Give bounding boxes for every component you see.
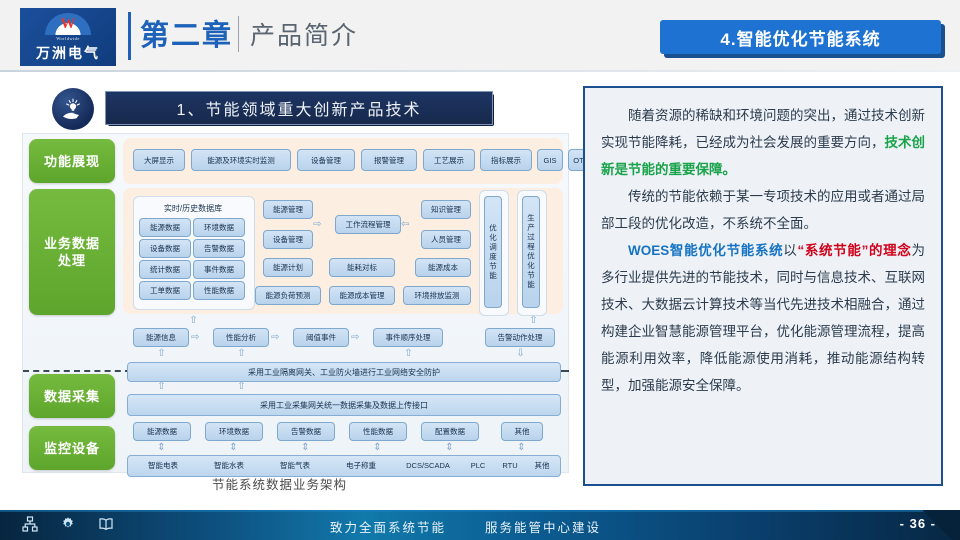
- biz-node-load-forecast[interactable]: 能源负荷预测: [255, 286, 321, 305]
- biz-node-device-mgmt[interactable]: 设备管理: [263, 230, 313, 249]
- p3-highlight-red: “系统节能”的理念: [797, 243, 911, 258]
- node-label: 事件数据: [204, 265, 234, 274]
- database-title: 实时/历史数据库: [137, 200, 249, 216]
- arrow-up-perf: ⇧: [237, 349, 246, 359]
- topic-badge-body: 4.智能优化节能系统: [660, 20, 941, 54]
- node-indicator-display[interactable]: 指标展示: [480, 149, 532, 171]
- data-node-alarm[interactable]: 告警数据: [277, 422, 335, 441]
- node-label: 工艺展示: [434, 156, 464, 165]
- gear-icon[interactable]: [60, 516, 76, 532]
- collection-gateway-bar[interactable]: 采用工业采集网关统一数据采集及数据上传接口: [127, 394, 561, 416]
- book-icon[interactable]: [98, 516, 114, 532]
- flow-node-event-sequence[interactable]: 事件顺序处理: [373, 328, 443, 347]
- gateway-bar-label: 采用工业采集网关统一数据采集及数据上传接口: [260, 400, 428, 411]
- chapter-separator: [238, 16, 239, 52]
- node-label: 报警管理: [374, 156, 404, 165]
- node-label: 环境数据: [204, 223, 234, 232]
- node-label: 能耗对标: [347, 263, 377, 272]
- data-node-config[interactable]: 配置数据: [421, 422, 479, 441]
- node-label: 大屏显示: [144, 156, 174, 165]
- logo-company-name: 万洲电气: [36, 44, 100, 62]
- biz-node-knowledge-mgmt[interactable]: 知识管理: [421, 200, 471, 219]
- node-label: 其他: [515, 427, 530, 436]
- header-divider: [0, 70, 960, 72]
- layer-label-devices: 监控设备: [29, 426, 115, 470]
- db-node-workorder[interactable]: 工单数据: [139, 281, 191, 300]
- node-label: 告警数据: [291, 427, 321, 436]
- db-node-performance[interactable]: 性能数据: [193, 281, 245, 300]
- arrow-up-sec-1: ⇧: [157, 382, 166, 392]
- biz-node-energy-plan[interactable]: 能源计划: [263, 258, 313, 277]
- slide-footer: [0, 510, 960, 540]
- section-title-label: 1、节能领域重大创新产品技术: [177, 96, 422, 120]
- layer-label-presentation: 功能展现: [29, 139, 115, 183]
- layer-label-business-text1: 业务数据: [44, 235, 100, 252]
- node-label: 能源管理: [273, 205, 303, 214]
- biz-node-staff-mgmt[interactable]: 人员管理: [421, 230, 471, 249]
- db-node-event[interactable]: 事件数据: [193, 260, 245, 279]
- node-process-display[interactable]: 工艺展示: [423, 149, 475, 171]
- node-label: 优化调度节能: [489, 224, 498, 281]
- arrow-up-vert: ⇧: [529, 316, 538, 326]
- node-label: 生产过程优化节能: [527, 214, 536, 290]
- node-big-screen[interactable]: 大屏显示: [133, 149, 185, 171]
- node-label: 告警动作处理: [498, 333, 543, 342]
- arrow-dn-5: ⇕: [445, 443, 454, 453]
- biz-node-energy-cost[interactable]: 能源成本: [415, 258, 471, 277]
- flow-node-energy-info[interactable]: 能源信息: [133, 328, 189, 347]
- node-label: 智能电表: [148, 461, 178, 470]
- footer-icon-group: [22, 516, 114, 532]
- device-node-smart-meter[interactable]: 智能电表: [135, 456, 191, 474]
- diagram-caption: 节能系统数据业务架构: [212, 474, 347, 493]
- description-panel: 随着资源的稀缺和环境问题的突出，通过技术创新实现节能降耗，已经成为社会发展的重要…: [583, 86, 943, 486]
- slide-root: W Worldwide 万洲电气 第二章 产品简介 4.智能优化节能系统: [0, 0, 960, 540]
- node-label: 性能数据: [363, 427, 393, 436]
- db-node-alarm[interactable]: 告警数据: [193, 239, 245, 258]
- node-label: 能源数据: [147, 427, 177, 436]
- p3-text-b: 为多行业提供先进的节能技术，同时与信息技术、互联网技术、大数据云计算技术等当代先…: [601, 243, 925, 393]
- node-label: 电子称重: [346, 461, 376, 470]
- db-node-device[interactable]: 设备数据: [139, 239, 191, 258]
- security-gateway-bar[interactable]: 采用工业隔离网关、工业防火墙进行工业网络安全防护: [127, 362, 561, 382]
- node-label: 能源信息: [146, 333, 176, 342]
- section-title-bar: 1、节能领域重大创新产品技术: [105, 91, 493, 125]
- layer-label-business: 业务数据 处理: [29, 189, 115, 315]
- node-device-mgmt-top[interactable]: 设备管理: [297, 149, 355, 171]
- database-title-text: 实时/历史数据库: [164, 204, 222, 213]
- layer-label-business-text2: 处理: [58, 252, 86, 269]
- node-alarm-mgmt[interactable]: 报警管理: [361, 149, 417, 171]
- node-realtime-monitor[interactable]: 能源及环境实时监测: [191, 149, 291, 171]
- layer-label-devices-text: 监控设备: [44, 440, 100, 457]
- footer-slogan-left: 致力全面系统节能: [330, 517, 446, 536]
- arrow-dn-1: ⇕: [157, 443, 166, 453]
- node-label: 告警数据: [204, 244, 234, 253]
- description-paragraph-1: 随着资源的稀缺和环境问题的突出，通过技术创新实现节能降耗，已经成为社会发展的重要…: [601, 102, 925, 183]
- flow-node-performance-analysis[interactable]: 性能分析: [213, 328, 269, 347]
- arrow-up-sec-2: ⇧: [237, 382, 246, 392]
- device-node-scale[interactable]: 电子称重: [333, 456, 389, 474]
- node-label: 知识管理: [431, 205, 461, 214]
- sitemap-icon[interactable]: [22, 516, 38, 532]
- layer-label-presentation-text: 功能展现: [44, 153, 100, 170]
- footer-slogan-right: 服务能管中心建设: [485, 517, 601, 536]
- node-label: 能源数据: [150, 223, 180, 232]
- architecture-diagram: 功能展现 业务数据 处理 数据采集 监控设备 大屏显示 能源及环境实时监测 设备…: [22, 133, 569, 473]
- node-label: 环境数据: [219, 427, 249, 436]
- company-logo: W Worldwide 万洲电气: [20, 8, 116, 66]
- slide-header: W Worldwide 万洲电气 第二章 产品简介 4.智能优化节能系统: [0, 0, 960, 72]
- node-label: 事件顺序处理: [386, 333, 431, 342]
- node-label: DCS/SCADA: [406, 461, 450, 470]
- device-node-other[interactable]: 其他: [527, 456, 557, 474]
- arrow-down-alarm: ⇩: [516, 349, 525, 359]
- p1-text: 随着资源的稀缺和环境问题的突出，通过技术创新实现节能降耗，已经成为社会发展的重要…: [601, 108, 925, 150]
- device-node-water-meter[interactable]: 智能水表: [201, 456, 257, 474]
- biz-node-consumption-benchmark[interactable]: 能耗对标: [329, 258, 395, 277]
- node-label: 其他: [535, 461, 550, 470]
- node-label: RTU: [502, 461, 517, 470]
- arrow-dn-2: ⇕: [229, 443, 238, 453]
- arrow-up-event-seq: ⇧: [404, 349, 413, 359]
- node-label: PLC: [471, 461, 486, 470]
- arrow-up-energy-info: ⇧: [157, 349, 166, 359]
- node-label: 工单数据: [150, 286, 180, 295]
- node-label: 配置数据: [435, 427, 465, 436]
- data-node-environment[interactable]: 环境数据: [205, 422, 263, 441]
- db-node-environment[interactable]: 环境数据: [193, 218, 245, 237]
- node-label: 设备管理: [311, 156, 341, 165]
- arrow-flow-3: ⇨: [351, 333, 371, 342]
- description-paragraph-2: 传统的节能依赖于某一专项技术的应用或者通过局部工段的优化改造，不系统不全面。: [601, 183, 925, 237]
- arrow-up-db: ⇧: [189, 316, 198, 326]
- node-label: 设备管理: [273, 235, 303, 244]
- chapter-accent-bar: [128, 12, 131, 60]
- logo-letter: W: [45, 15, 91, 33]
- db-node-energy[interactable]: 能源数据: [139, 218, 191, 237]
- node-label: 智能水表: [214, 461, 244, 470]
- topic-badge: 4.智能优化节能系统: [660, 20, 945, 58]
- node-label: 阈值事件: [306, 333, 336, 342]
- security-bar-label: 采用工业隔离网关、工业防火墙进行工业网络安全防护: [248, 367, 440, 378]
- node-label: 工作流程管理: [346, 220, 391, 229]
- vnode-production-optimization[interactable]: 生产过程优化节能: [522, 196, 540, 308]
- node-label: 智能气表: [280, 461, 310, 470]
- arrow-dn-4: ⇕: [373, 443, 382, 453]
- page-number: - 36 -: [900, 516, 936, 531]
- p3-text-a: 以: [783, 243, 797, 258]
- node-label: 设备数据: [150, 244, 180, 253]
- description-paragraph-3: WOES智能优化节能系统以“系统节能”的理念为多行业提供先进的节能技术，同时与信…: [601, 237, 925, 399]
- device-node-plc[interactable]: PLC: [463, 456, 493, 474]
- arrow-flow-1: ⇨: [191, 333, 211, 342]
- node-label: 人员管理: [431, 235, 461, 244]
- biz-node-workflow-mgmt[interactable]: 工作流程管理: [335, 215, 401, 234]
- chapter-title: 第二章: [140, 17, 233, 55]
- node-label: 能源计划: [273, 263, 303, 272]
- logo-latin-text: Worldwide: [56, 36, 79, 42]
- data-node-performance[interactable]: 性能数据: [349, 422, 407, 441]
- logo-mark-icon: W: [45, 13, 91, 35]
- arrow-dn-6: ⇕: [517, 443, 526, 453]
- device-node-rtu[interactable]: RTU: [495, 456, 525, 474]
- node-label: 统计数据: [150, 265, 180, 274]
- hand-holding-bulb-icon: [52, 88, 94, 130]
- node-label: 能源成本: [428, 263, 458, 272]
- flow-node-alarm-action[interactable]: 告警动作处理: [485, 328, 555, 347]
- node-label: 性能数据: [204, 286, 234, 295]
- device-node-dcs-scada[interactable]: DCS/SCADA: [397, 456, 459, 474]
- data-node-energy[interactable]: 能源数据: [133, 422, 191, 441]
- security-boundary-left: [23, 370, 131, 372]
- footer-accent-line: [0, 510, 960, 512]
- data-node-other[interactable]: 其他: [501, 422, 543, 441]
- chapter-subtitle: 产品简介: [250, 19, 358, 53]
- node-label: 环境排放监测: [415, 291, 460, 300]
- node-label: 能源成本管理: [340, 291, 385, 300]
- arrow-flow-2: ⇨: [271, 333, 291, 342]
- topic-badge-label: 4.智能优化节能系统: [720, 25, 880, 50]
- node-gis[interactable]: GIS: [537, 149, 563, 171]
- arrow-to-workflow-left: ⇨: [313, 220, 335, 229]
- node-label: 性能分析: [226, 333, 256, 342]
- node-label: 能源负荷预测: [266, 291, 311, 300]
- arrow-to-workflow-right: ⇦: [401, 220, 423, 229]
- biz-node-emission-monitor[interactable]: 环境排放监测: [403, 286, 471, 305]
- arrow-dn-3: ⇕: [301, 443, 310, 453]
- flow-node-threshold-event[interactable]: 阈值事件: [293, 328, 349, 347]
- layer-label-collection-text: 数据采集: [44, 388, 100, 405]
- p3-highlight-blue: WOES智能优化节能系统: [628, 243, 783, 258]
- db-node-statistics[interactable]: 统计数据: [139, 260, 191, 279]
- biz-node-cost-mgmt[interactable]: 能源成本管理: [329, 286, 395, 305]
- node-label: 能源及环境实时监测: [207, 156, 275, 165]
- device-node-gas-meter[interactable]: 智能气表: [267, 456, 323, 474]
- layer-label-collection: 数据采集: [29, 374, 115, 418]
- vnode-optimized-scheduling[interactable]: 优化调度节能: [484, 196, 502, 308]
- biz-node-energy-mgmt[interactable]: 能源管理: [263, 200, 313, 219]
- node-label: GIS: [544, 156, 557, 165]
- node-label: 指标展示: [491, 156, 521, 165]
